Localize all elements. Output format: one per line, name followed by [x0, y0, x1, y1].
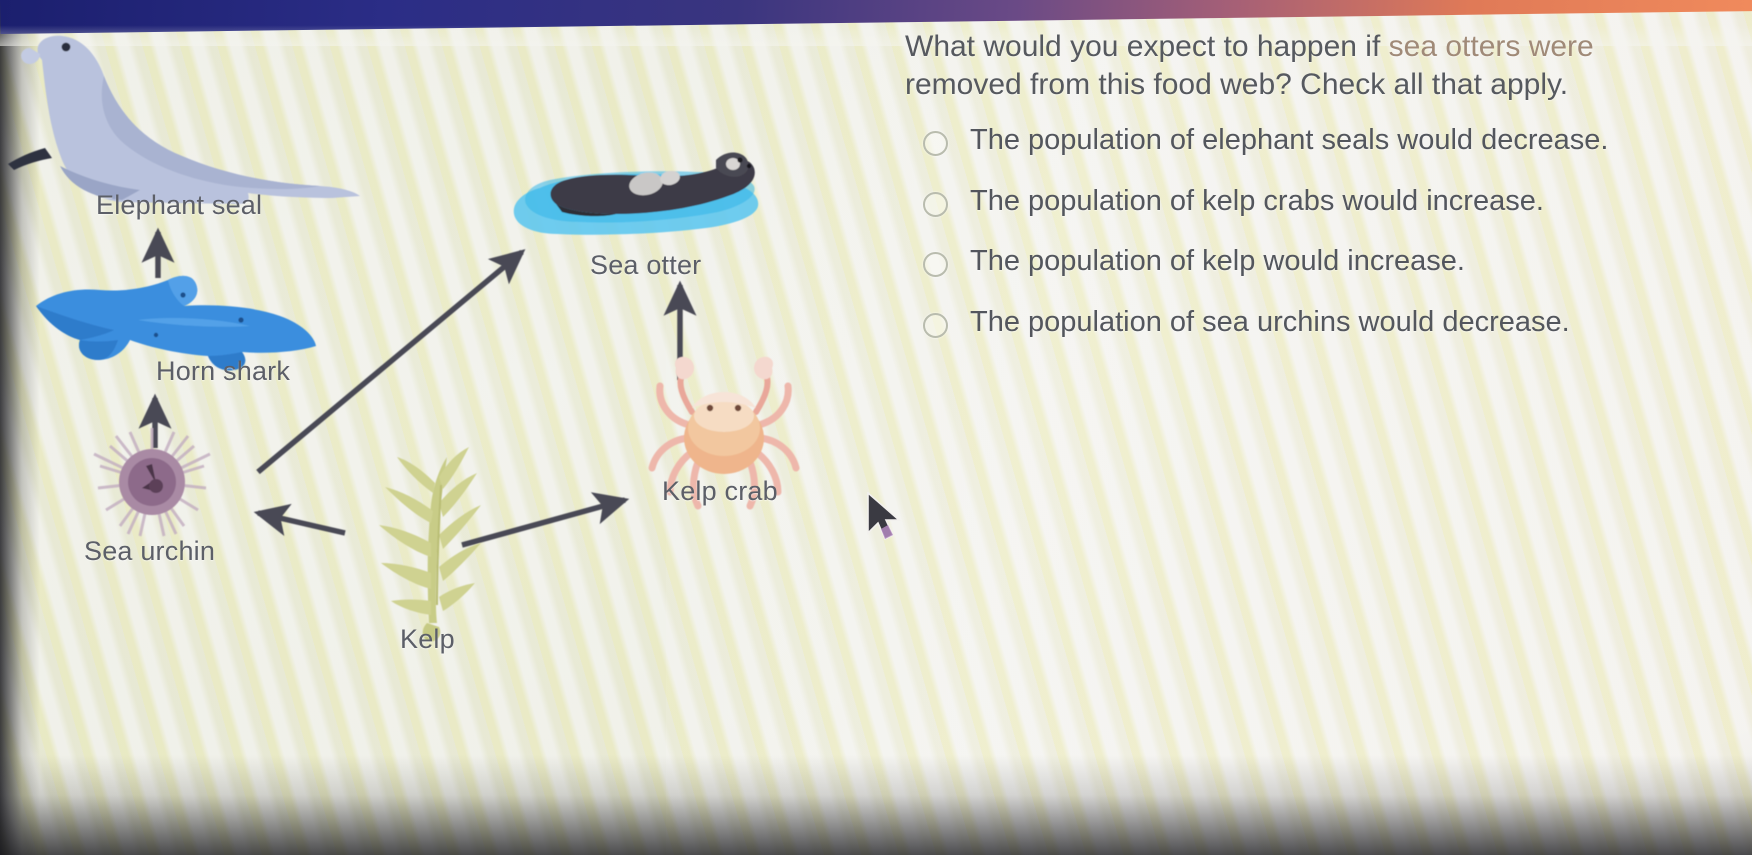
radio-button-icon[interactable] [923, 131, 948, 156]
option-elephant-seals[interactable]: The population of elephant seals would d… [923, 123, 1725, 158]
node-label-kelp: Kelp [400, 624, 455, 655]
question-prompt: What would you expect to happen if sea o… [905, 28, 1705, 105]
node-label-elephant-seal: Elephant seal [96, 190, 262, 221]
question-prompt-highlight: sea otters were [1389, 30, 1594, 63]
node-label-horn-shark: Horn shark [156, 356, 290, 387]
question-prompt-prefix: What would you expect to happen if [905, 30, 1389, 63]
sea-urchin-icon [94, 428, 210, 536]
option-sea-urchins[interactable]: The population of sea urchins would decr… [923, 305, 1725, 340]
radio-button-icon[interactable] [923, 252, 948, 277]
question-panel: What would you expect to happen if sea o… [905, 28, 1725, 366]
radio-button-icon[interactable] [923, 192, 948, 217]
node-label-kelp-crab: Kelp crab [662, 476, 778, 507]
radio-button-icon[interactable] [923, 313, 948, 338]
sea-otter-icon [514, 153, 758, 235]
arrow-kelp-to-kelpcrab [462, 500, 625, 545]
elephant-seal-icon [8, 36, 360, 204]
option-kelp[interactable]: The population of kelp would increase. [923, 244, 1725, 279]
question-prompt-line2: removed from this food web? Check all th… [905, 68, 1568, 101]
arrow-kelp-to-seaurchin [258, 513, 345, 533]
option-kelp-crabs[interactable]: The population of kelp crabs would incre… [923, 184, 1725, 219]
node-label-sea-otter: Sea otter [590, 250, 701, 281]
arrow-seaurchin-to-seaotter [258, 252, 522, 472]
node-label-sea-urchin: Sea urchin [84, 536, 215, 567]
option-label: The population of elephant seals would d… [970, 123, 1608, 158]
option-label: The population of kelp crabs would incre… [970, 184, 1544, 219]
option-label: The population of kelp would increase. [970, 244, 1465, 279]
screen-photo: Elephant seal Horn shark Sea urchin Kelp… [0, 0, 1752, 855]
option-label: The population of sea urchins would decr… [970, 305, 1570, 340]
